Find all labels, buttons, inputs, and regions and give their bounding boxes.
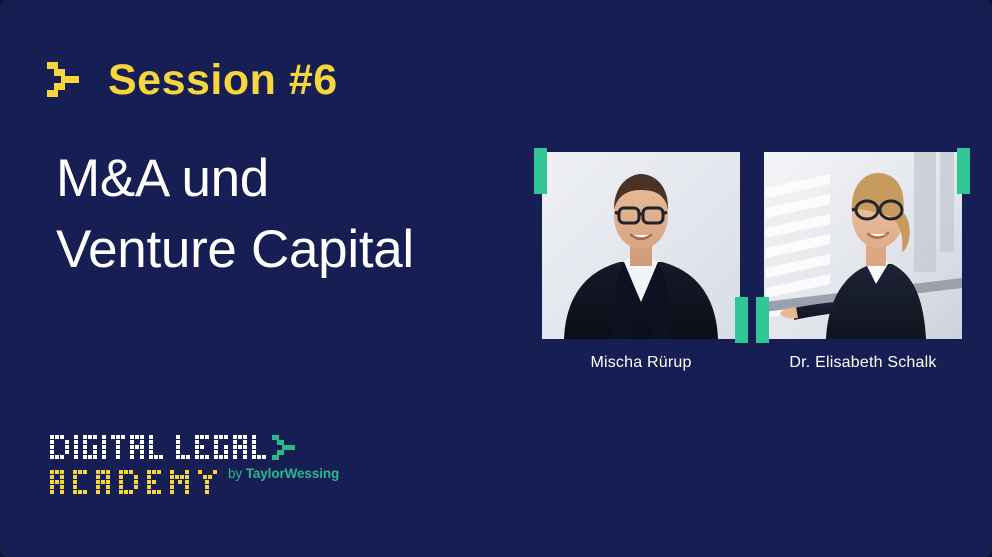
- accent-bar-top-left: [534, 148, 547, 194]
- presentation-slide: Session #6 M&A und Venture Capital: [0, 0, 992, 557]
- page-title: M&A und Venture Capital: [56, 143, 526, 285]
- logo-byline: by TaylorWessing: [228, 466, 339, 481]
- speaker-photo-1: [542, 152, 740, 339]
- pixel-chevron-icon: [47, 58, 89, 102]
- session-eyebrow: Session #6: [47, 52, 338, 108]
- logo-byline-prefix: by: [228, 466, 246, 481]
- speaker-photo-frame-2: [764, 148, 962, 339]
- accent-bar-top-right: [957, 148, 970, 194]
- speaker-name-2: Dr. Elisabeth Schalk: [764, 354, 962, 372]
- speaker-photo-2: [764, 152, 962, 339]
- accent-bar-bottom-left: [756, 297, 769, 343]
- speaker-card-2: Dr. Elisabeth Schalk: [764, 148, 962, 372]
- speaker-list: Mischa Rürup: [532, 148, 972, 378]
- speaker-card-1: Mischa Rürup: [542, 148, 740, 372]
- logo-byline-brand: TaylorWessing: [246, 466, 339, 481]
- title-line-2: Venture Capital: [56, 214, 526, 285]
- brand-logo: by TaylorWessing: [50, 428, 350, 506]
- speaker-photo-frame-1: [542, 148, 740, 339]
- speaker-name-1: Mischa Rürup: [542, 354, 740, 372]
- title-line-1: M&A und: [56, 143, 526, 214]
- accent-bar-bottom-right: [735, 297, 748, 343]
- session-label: Session #6: [108, 59, 338, 102]
- pixel-chevron-icon: [272, 435, 295, 460]
